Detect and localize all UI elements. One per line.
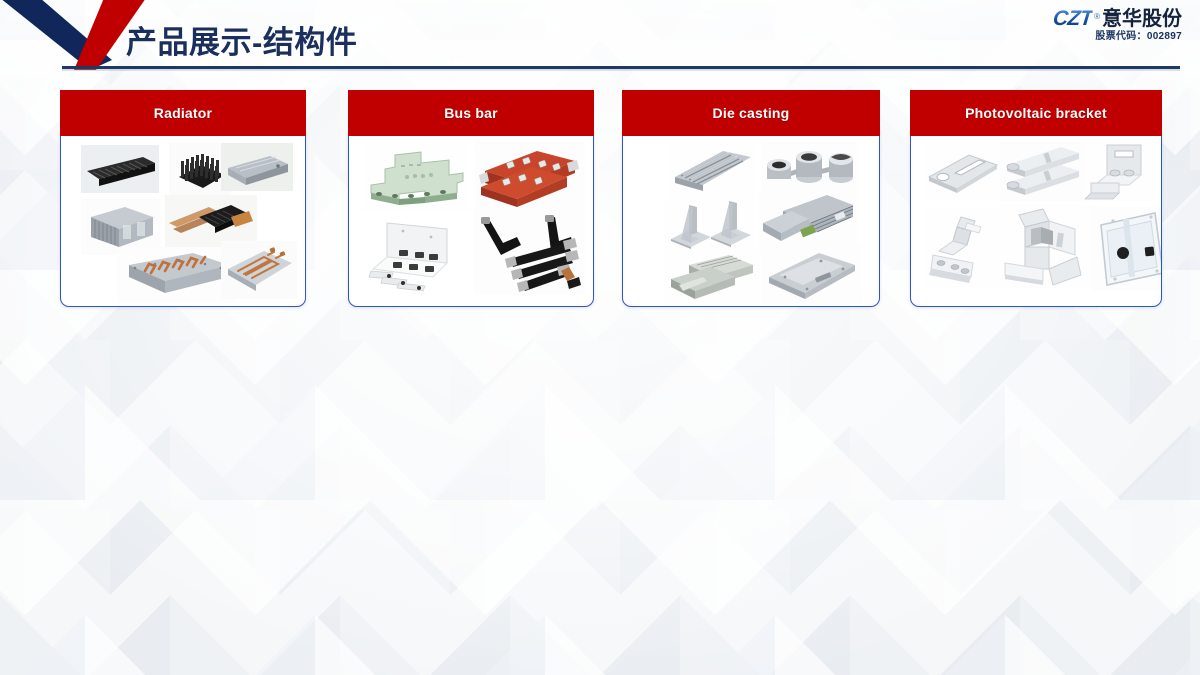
thumb-copper-tube-cold-plate xyxy=(221,241,297,299)
slide-header: 产品展示-结构件 CZT ® 意华股份 股票代码：002897 xyxy=(0,0,1200,80)
product-card-row: Radiator xyxy=(0,90,1200,305)
card-header-photovoltaic-bracket: Photovoltaic bracket xyxy=(910,90,1162,136)
card-body-die-casting xyxy=(622,130,880,307)
thumb-end-clamp-assembly xyxy=(999,205,1097,289)
stock-code-label: 股票代码： xyxy=(1095,31,1147,42)
thumb-liquid-cold-plate-copper-tubes xyxy=(117,247,235,303)
header-divider-shadow xyxy=(62,69,1180,71)
registered-trademark-icon: ® xyxy=(1094,13,1100,21)
stock-code-value: 002897 xyxy=(1147,31,1182,42)
card-title-die-casting: Die casting xyxy=(713,105,790,121)
slide-canvas: 产品展示-结构件 CZT ® 意华股份 股票代码：002897 Radiator xyxy=(0,0,1200,675)
thumb-pv-panel-frame-mount xyxy=(1091,207,1162,291)
card-header-die-casting: Die casting xyxy=(622,90,880,136)
logo-czt-wordmark: CZT xyxy=(1052,8,1094,29)
product-gallery-bus-bar xyxy=(357,137,585,300)
thumb-roof-hook-bracket xyxy=(925,209,1007,287)
card-title-photovoltaic-bracket: Photovoltaic bracket xyxy=(965,105,1107,121)
thumb-stacked-die-cast-plates xyxy=(665,249,759,307)
thumb-black-insulated-flexible-busbars xyxy=(473,213,585,295)
thumb-black-finned-heatsink-plate xyxy=(81,145,159,193)
thumb-pyramid-support-brackets xyxy=(665,195,753,251)
card-header-bus-bar: Bus bar xyxy=(348,90,594,136)
thumb-white-mounting-bracket-busbar xyxy=(363,215,469,293)
thumb-aluminum-rail-profiles xyxy=(1001,141,1085,201)
logo-stock-row: 股票代码：002897 xyxy=(1053,32,1182,42)
card-title-bus-bar: Bus bar xyxy=(444,105,498,121)
product-gallery-radiator xyxy=(69,137,297,300)
thumb-cylindrical-machined-housings xyxy=(761,141,857,197)
thumb-heatsink-enclosure-module xyxy=(759,191,857,251)
product-card-radiator[interactable]: Radiator xyxy=(60,90,306,305)
logo-company-name-cn: 意华股份 xyxy=(1102,9,1182,29)
page-title: 产品展示-结构件 xyxy=(126,17,357,62)
product-card-photovoltaic-bracket[interactable]: Photovoltaic bracket xyxy=(910,90,1162,305)
thumb-aluminum-extruded-heatsink xyxy=(221,143,293,191)
thumb-large-die-cast-cover xyxy=(761,245,861,305)
thumb-green-insulated-busbar-plate xyxy=(363,143,469,211)
product-gallery-die-casting xyxy=(631,137,871,300)
card-header-radiator: Radiator xyxy=(60,90,306,136)
product-card-die-casting[interactable]: Die casting xyxy=(622,90,880,305)
thumb-corner-mounting-bracket xyxy=(1083,139,1155,201)
card-body-bus-bar xyxy=(348,130,594,307)
thumb-orange-laminated-busbar-stack xyxy=(475,141,585,213)
thumb-copper-bonded-fin-assembly xyxy=(165,195,257,247)
thumb-slotted-mounting-plate xyxy=(923,143,1001,199)
card-body-photovoltaic-bracket xyxy=(910,130,1162,307)
thumb-finned-die-cast-plate xyxy=(669,145,755,195)
card-body-radiator xyxy=(60,130,306,307)
logo-primary-row: CZT ® 意华股份 xyxy=(1053,8,1182,29)
company-logo: CZT ® 意华股份 股票代码：002897 xyxy=(1053,8,1182,42)
card-title-radiator: Radiator xyxy=(154,105,212,121)
product-gallery-photovoltaic-bracket xyxy=(919,137,1153,300)
product-card-bus-bar[interactable]: Bus bar xyxy=(348,90,594,305)
